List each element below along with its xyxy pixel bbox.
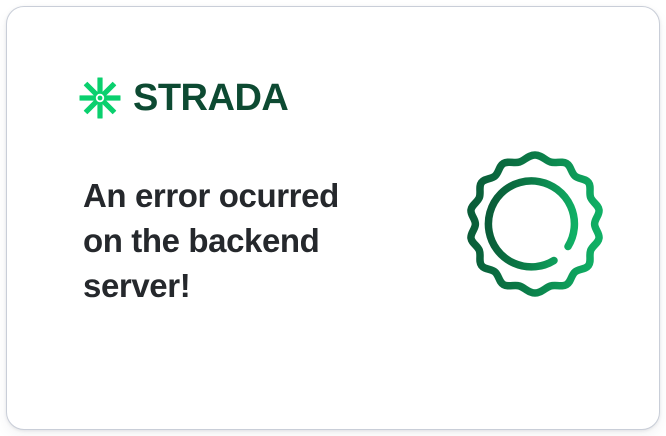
brand-name: STRADA bbox=[133, 79, 288, 117]
error-card: STRADA An error ocurred on the backend s… bbox=[6, 6, 660, 430]
brand-lockup: STRADA bbox=[79, 75, 288, 121]
gear-cog-icon bbox=[451, 143, 619, 311]
error-page: STRADA An error ocurred on the backend s… bbox=[0, 0, 666, 436]
strada-asterisk-icon bbox=[79, 77, 121, 119]
error-message: An error ocurred on the backend server! bbox=[83, 173, 383, 308]
